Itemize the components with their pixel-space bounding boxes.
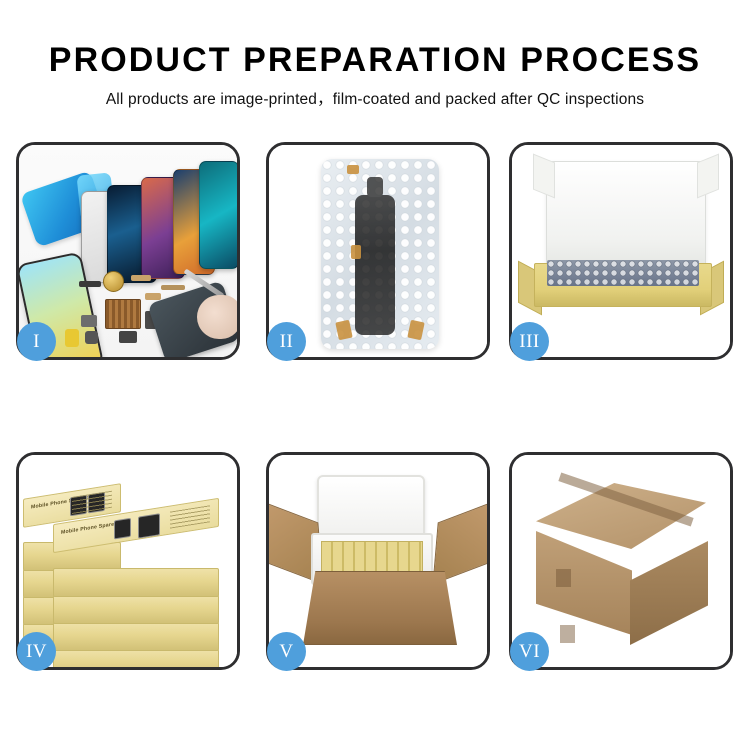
step-badge-5: V xyxy=(267,632,306,671)
part-chip xyxy=(119,331,137,343)
part-chip xyxy=(79,281,101,287)
bubble-wrap-package xyxy=(321,159,439,349)
panel-2-image xyxy=(269,145,487,357)
panel-6-image xyxy=(512,455,730,667)
sealed-carton-scene xyxy=(512,455,730,667)
phone-lineup xyxy=(81,163,231,281)
carton-with-foam-scene xyxy=(269,455,487,667)
logic-board-part xyxy=(105,299,141,329)
box-lid xyxy=(546,161,706,273)
phones-and-parts-scene xyxy=(19,145,237,357)
carton-tab xyxy=(560,625,575,643)
part-chip xyxy=(145,293,161,300)
bubble-wrap-scene xyxy=(269,145,487,357)
part-chip xyxy=(65,329,79,347)
part-chip xyxy=(161,285,185,290)
stacked-boxes-scene: Mobile Phone Spare Parts Mobile Phone Sp… xyxy=(19,455,237,667)
box-stack-right: Mobile Phone Spare Parts xyxy=(53,511,217,667)
process-panel-5[interactable]: V xyxy=(266,452,490,670)
step-badge-2: II xyxy=(267,322,306,361)
process-panel-1[interactable]: I xyxy=(16,142,240,360)
process-panel-3[interactable]: III xyxy=(509,142,733,360)
panel-5-image xyxy=(269,455,487,667)
page-title: PRODUCT PREPARATION PROCESS xyxy=(49,40,701,80)
process-panel-6[interactable]: VI xyxy=(509,452,733,670)
tape-piece xyxy=(407,320,424,341)
tape-piece xyxy=(347,165,359,174)
carton-tab xyxy=(556,569,571,587)
part-chip xyxy=(85,331,98,344)
phone-screen-5 xyxy=(199,161,237,269)
step-badge-6: VI xyxy=(510,632,549,671)
open-yellow-box-scene xyxy=(512,145,730,357)
process-panel-2[interactable]: II xyxy=(266,142,490,360)
page-header: PRODUCT PREPARATION PROCESS All products… xyxy=(0,0,750,125)
process-panel-grid: I II xyxy=(0,130,750,690)
bubble-wrapped-contents xyxy=(547,260,699,286)
page-subtitle: All products are image-printed，film-coat… xyxy=(106,87,644,109)
panel-3-image xyxy=(512,145,730,357)
step-badge-4: IV xyxy=(17,632,56,671)
part-chip xyxy=(81,315,97,327)
panel-4-image: Mobile Phone Spare Parts Mobile Phone Sp… xyxy=(19,455,237,667)
carton-right-face xyxy=(630,541,708,645)
step-badge-3: III xyxy=(510,322,549,361)
speaker-part-icon xyxy=(103,271,124,292)
panel-1-image xyxy=(19,145,237,357)
part-chip xyxy=(131,275,151,281)
tape-piece xyxy=(335,320,352,341)
step-badge-1: I xyxy=(17,322,56,361)
carton-body xyxy=(303,571,457,645)
tape-piece xyxy=(351,245,361,259)
carton-left-face xyxy=(536,531,632,635)
wrapped-part xyxy=(355,195,395,335)
process-panel-4[interactable]: Mobile Phone Spare Parts Mobile Phone Sp… xyxy=(16,452,240,670)
box-tray xyxy=(534,263,712,307)
hand xyxy=(197,295,237,339)
foam-lid xyxy=(317,475,425,541)
